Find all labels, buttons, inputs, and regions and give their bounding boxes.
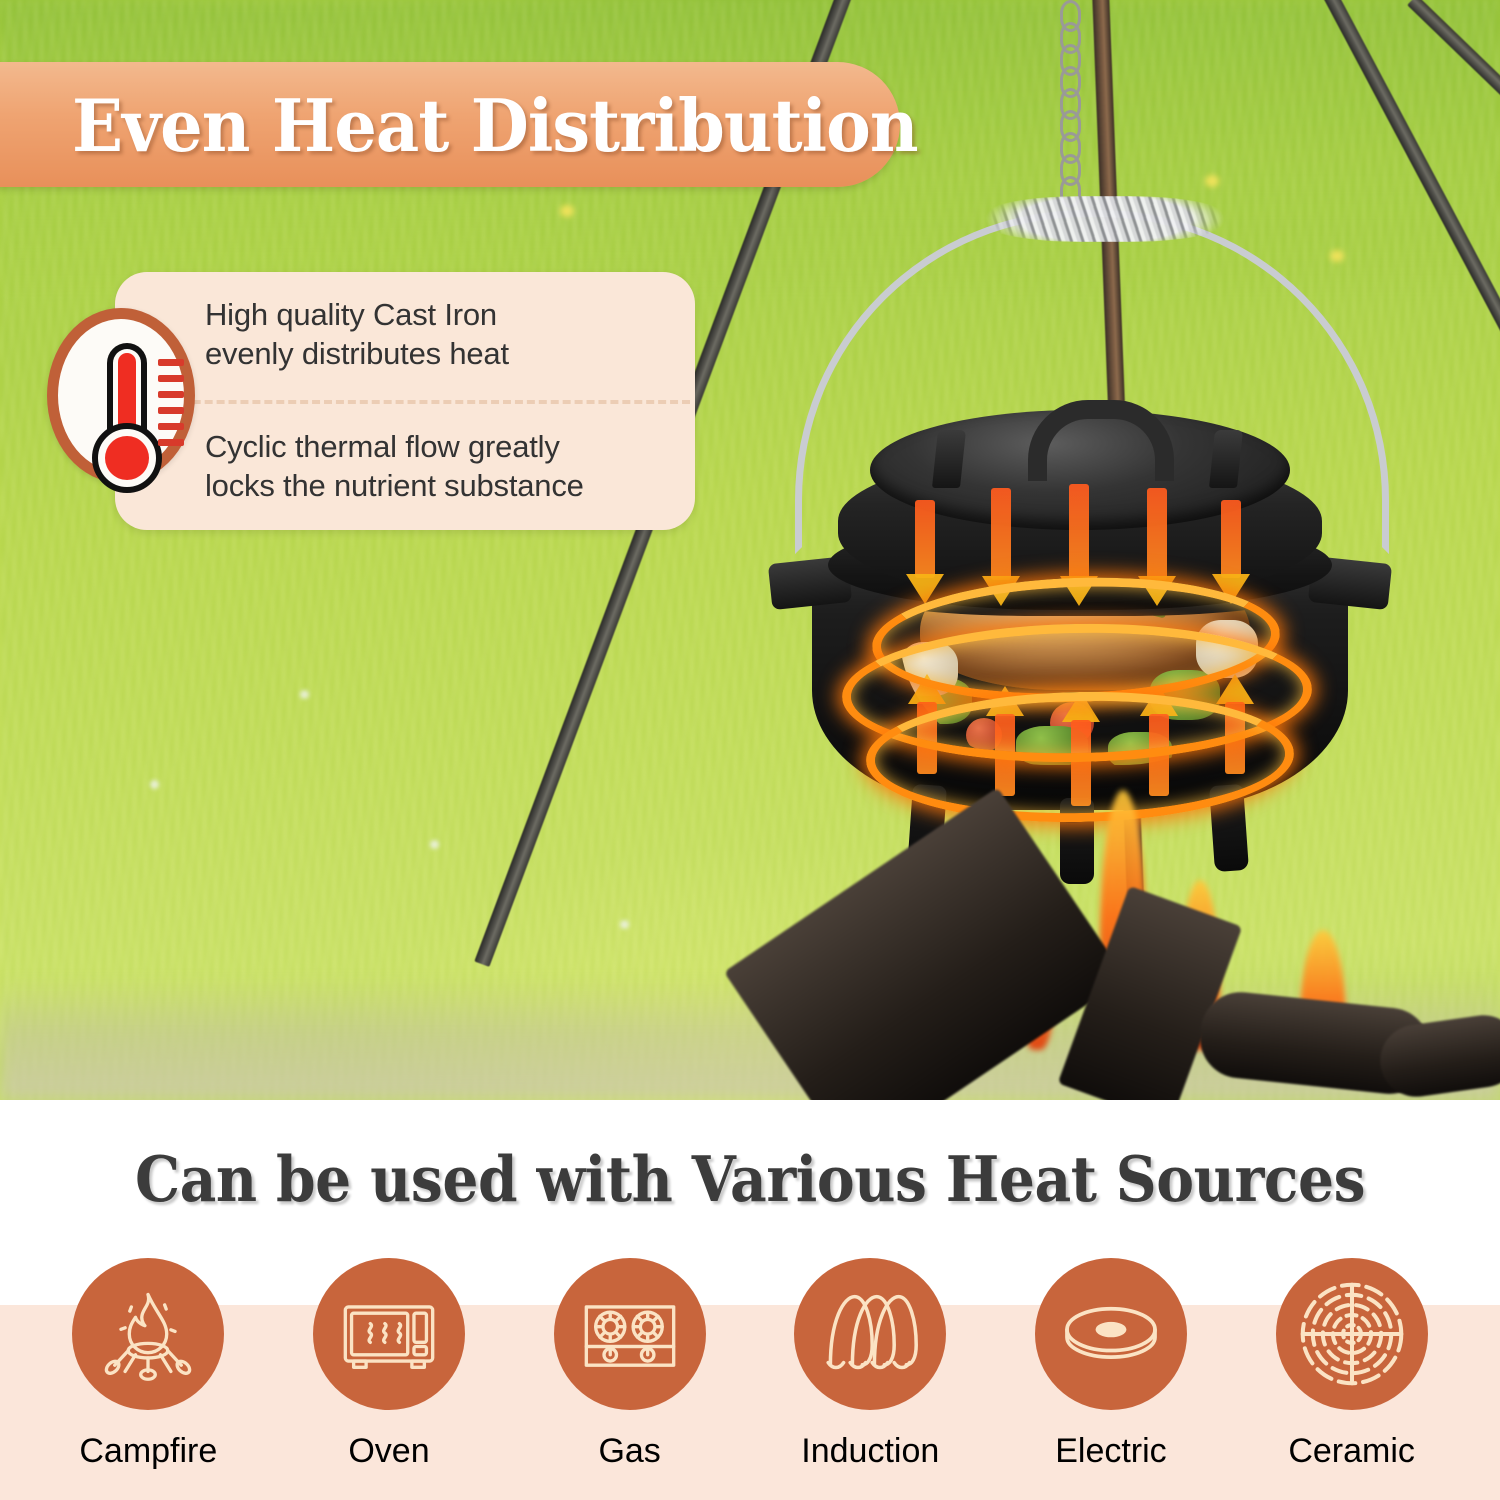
callout-line-2b: locks the nutrient substance	[205, 466, 584, 505]
heat-source-label: Induction	[801, 1432, 939, 1471]
heat-source-label: Campfire	[79, 1432, 217, 1471]
oven-icon	[313, 1258, 465, 1410]
heat-sources-list: Campfire Oven	[0, 1258, 1500, 1498]
heat-source-label: Ceramic	[1288, 1432, 1415, 1471]
heat-source-ceramic[interactable]: Ceramic	[1257, 1258, 1447, 1471]
hanging-chain	[1060, 0, 1076, 215]
product-feature-page: Even Heat Distribution High quality Cast…	[0, 0, 1500, 1500]
heat-source-label: Gas	[598, 1432, 660, 1471]
induction-coil-icon	[794, 1258, 946, 1410]
heat-source-label: Electric	[1055, 1432, 1166, 1471]
flower	[620, 920, 629, 929]
heat-source-label: Oven	[348, 1432, 429, 1471]
electric-hotplate-icon	[1035, 1258, 1187, 1410]
thermometer-icon	[47, 308, 195, 483]
heat-sources-title: Can be used with Various Heat Sources	[75, 1142, 1425, 1216]
ceramic-rings-icon	[1276, 1258, 1428, 1410]
callout-text-second: Cyclic thermal flow greatly locks the nu…	[205, 427, 584, 505]
flower	[560, 205, 574, 217]
heat-source-electric[interactable]: Electric	[1016, 1258, 1206, 1471]
heat-source-oven[interactable]: Oven	[294, 1258, 484, 1471]
callout-line-2a: Cyclic thermal flow greatly	[205, 427, 584, 466]
heat-source-campfire[interactable]: Campfire	[53, 1258, 243, 1471]
handle-spring	[985, 196, 1225, 242]
page-title: Even Heat Distribution	[72, 66, 918, 186]
lid-handle	[1028, 400, 1174, 481]
cast-iron-dutch-oven	[760, 400, 1400, 850]
thermometer-bulb-fill	[105, 436, 149, 480]
gas-stove-icon	[554, 1258, 706, 1410]
flower	[1330, 250, 1344, 262]
flower	[300, 690, 309, 699]
heat-source-gas[interactable]: Gas	[535, 1258, 725, 1471]
callout-divider	[145, 400, 690, 404]
flower	[430, 840, 439, 849]
flower	[1205, 175, 1219, 187]
callout-line-1a: High quality Cast Iron	[205, 295, 509, 334]
callout-text-first: High quality Cast Iron evenly distribute…	[205, 295, 509, 373]
heat-source-induction[interactable]: Induction	[775, 1258, 965, 1471]
flower	[150, 780, 159, 789]
callout-line-1b: evenly distributes heat	[205, 334, 509, 373]
campfire-icon	[72, 1258, 224, 1410]
